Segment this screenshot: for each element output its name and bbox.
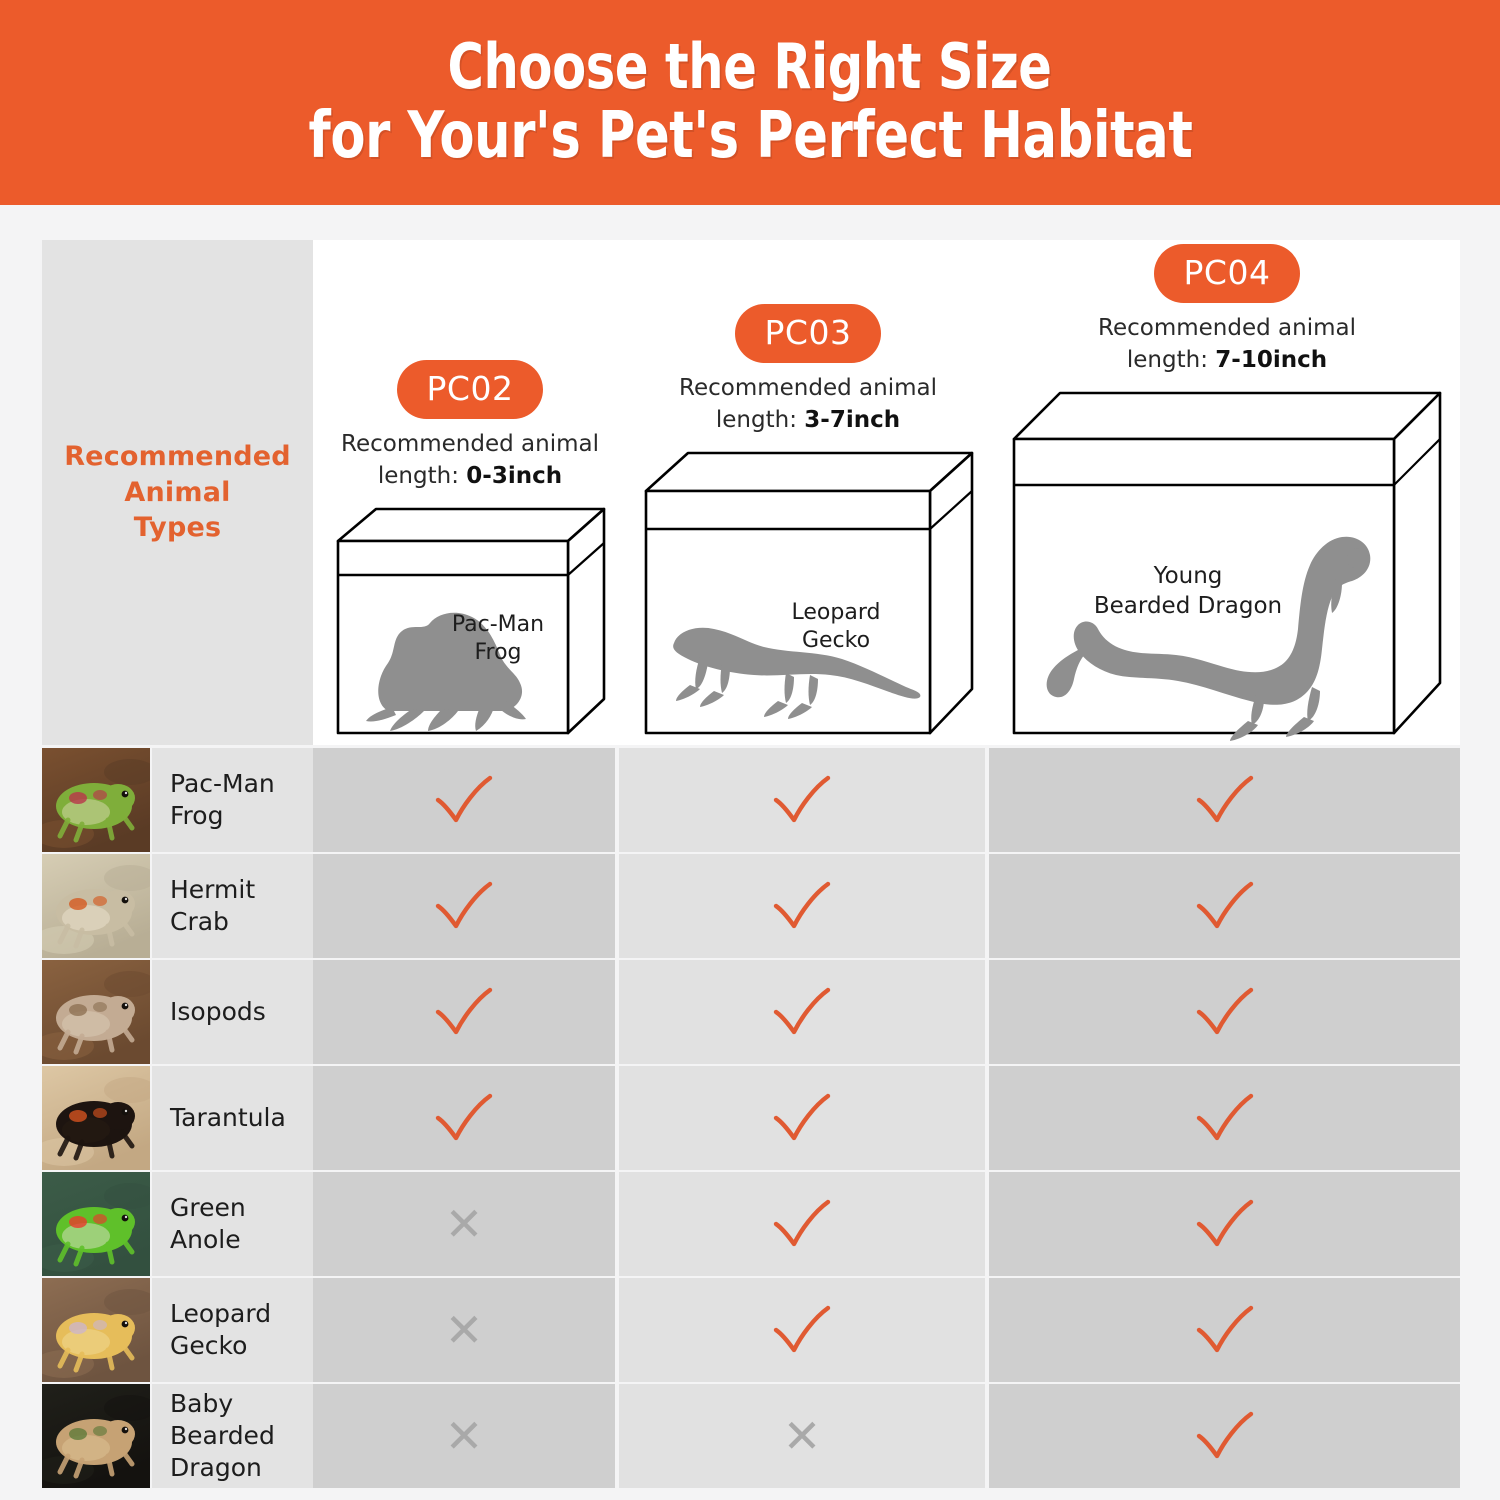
animal-name-label: Isopods	[152, 996, 266, 1028]
animal-name-cell: Tarantula	[152, 1066, 313, 1170]
cross-icon: ✕	[445, 1201, 484, 1247]
size-badge-pc02[interactable]: PC02	[397, 360, 544, 419]
rec-value-pc04: 7-10inch	[1215, 347, 1327, 373]
terrarium-box-pc03: Leopard Gecko	[638, 447, 979, 743]
recommendation-text-pc02: Recommended animal length: 0-3inch	[325, 428, 615, 493]
box-label-pc03-line1: Leopard	[791, 600, 880, 625]
check-icon	[432, 1091, 496, 1145]
cross-icon: ✕	[445, 1413, 484, 1459]
check-icon	[1193, 879, 1257, 933]
table-row: Isopods	[42, 960, 1460, 1064]
table-row: LeopardGecko✕	[42, 1278, 1460, 1382]
size-comparison-panel: Recommended Animal Types PC02 Recommende…	[42, 240, 1460, 745]
pacman-frog-photo	[42, 748, 150, 852]
compatibility-cell-pc04	[989, 960, 1460, 1064]
terrarium-box-pc04: Young Bearded Dragon	[1006, 387, 1448, 743]
check-icon	[1193, 985, 1257, 1039]
animal-name-label: LeopardGecko	[152, 1298, 271, 1362]
compatibility-cell-pc03	[619, 1066, 985, 1170]
animal-name-cell: GreenAnole	[152, 1172, 313, 1276]
baby-bearded-dragon-photo	[42, 1384, 150, 1488]
animal-name-label: Tarantula	[152, 1102, 286, 1134]
animal-photo-cell	[42, 1172, 150, 1276]
box-label-pc02-line2: Frog	[474, 640, 521, 665]
green-anole-photo	[42, 1172, 150, 1276]
rec-prefix-pc03: length:	[716, 407, 804, 433]
check-icon	[770, 879, 834, 933]
leopard-gecko-photo	[42, 1278, 150, 1382]
legend-header-line-2: Animal	[64, 475, 291, 511]
animal-name-cell: Baby BeardedDragon	[152, 1384, 313, 1488]
compatibility-cell-pc02: ✕	[313, 1278, 615, 1382]
hermit-crab-photo	[42, 854, 150, 958]
compatibility-cell-pc04	[989, 748, 1460, 852]
compatibility-cell-pc02: ✕	[313, 1384, 615, 1488]
compatibility-cell-pc04	[989, 1384, 1460, 1488]
compatibility-cell-pc03	[619, 960, 985, 1064]
check-icon	[770, 1197, 834, 1251]
compatibility-cell-pc03	[619, 748, 985, 852]
animal-photo-cell	[42, 854, 150, 958]
rec-line1-pc03: Recommended animal	[679, 375, 937, 401]
compatibility-cell-pc02	[313, 960, 615, 1064]
check-icon	[1193, 1303, 1257, 1357]
cross-icon: ✕	[783, 1413, 822, 1459]
legend-header-line-1: Recommended	[64, 439, 291, 475]
size-group-pc04: PC04 Recommended animal length: 7-10inch	[1001, 244, 1453, 743]
box-label-pc03-line2: Gecko	[801, 628, 869, 653]
terrarium-illustration-panel: PC02 Recommended animal length: 0-3inch	[313, 240, 1460, 745]
rec-value-pc02: 0-3inch	[466, 463, 562, 489]
rec-value-pc03: 3-7inch	[804, 407, 900, 433]
recommendation-text-pc04: Recommended animal length: 7-10inch	[1001, 312, 1453, 377]
animal-name-label: Baby BeardedDragon	[152, 1388, 313, 1484]
box-label-pc04-line2: Bearded Dragon	[1094, 593, 1282, 619]
check-icon	[1193, 1091, 1257, 1145]
animal-photo-cell	[42, 1384, 150, 1488]
compatibility-table: Pac-ManFrog HermitCrab	[42, 748, 1460, 1490]
table-row: HermitCrab	[42, 854, 1460, 958]
animal-photo-cell	[42, 1066, 150, 1170]
size-group-pc02: PC02 Recommended animal length: 0-3inch	[325, 360, 615, 743]
rec-line1-pc02: Recommended animal	[341, 431, 599, 457]
box-label-pc04-line1: Young	[1153, 563, 1223, 589]
compatibility-cell-pc04	[989, 1066, 1460, 1170]
table-row: GreenAnole✕	[42, 1172, 1460, 1276]
animal-name-label: HermitCrab	[152, 874, 255, 938]
check-icon	[770, 1303, 834, 1357]
check-icon	[770, 1091, 834, 1145]
check-icon	[1193, 773, 1257, 827]
animal-photo-cell	[42, 960, 150, 1064]
box-label-pc02-line1: Pac-Man	[451, 612, 543, 637]
compatibility-cell-pc03: ✕	[619, 1384, 985, 1488]
size-badge-pc03[interactable]: PC03	[735, 304, 882, 363]
compatibility-cell-pc04	[989, 1172, 1460, 1276]
recommendation-text-pc03: Recommended animal length: 3-7inch	[633, 372, 983, 437]
badge-wrap-pc02: PC02	[325, 360, 615, 419]
compatibility-cell-pc03	[619, 854, 985, 958]
table-row: Tarantula	[42, 1066, 1460, 1170]
check-icon	[770, 773, 834, 827]
rec-line1-pc04: Recommended animal	[1098, 315, 1356, 341]
animal-name-label: GreenAnole	[152, 1192, 246, 1256]
page-title-line-2: for Your's Pet's Perfect Habitat	[308, 104, 1192, 169]
legend-header-line-3: Types	[64, 510, 291, 546]
size-group-pc03: PC03 Recommended animal length: 3-7inch	[633, 304, 983, 743]
animal-name-cell: Isopods	[152, 960, 313, 1064]
compatibility-cell-pc04	[989, 854, 1460, 958]
page-title-line-1: Choose the Right Size	[448, 35, 1052, 98]
compatibility-cell-pc02	[313, 854, 615, 958]
animal-photo-cell	[42, 748, 150, 852]
legend-header-cell: Recommended Animal Types	[42, 240, 313, 745]
check-icon	[1193, 1409, 1257, 1463]
check-icon	[432, 773, 496, 827]
page-header-banner: Choose the Right Size for Your's Pet's P…	[0, 0, 1500, 205]
size-badge-pc04[interactable]: PC04	[1154, 244, 1301, 303]
check-icon	[432, 879, 496, 933]
compatibility-cell-pc02	[313, 1066, 615, 1170]
table-row: Pac-ManFrog	[42, 748, 1460, 852]
animal-name-label: Pac-ManFrog	[152, 768, 275, 832]
rec-prefix-pc04: length:	[1127, 347, 1215, 373]
compatibility-cell-pc02	[313, 748, 615, 852]
animal-photo-cell	[42, 1278, 150, 1382]
check-icon	[1193, 1197, 1257, 1251]
compatibility-cell-pc03	[619, 1172, 985, 1276]
compatibility-cell-pc03	[619, 1278, 985, 1382]
check-icon	[432, 985, 496, 1039]
animal-name-cell: LeopardGecko	[152, 1278, 313, 1382]
check-icon	[770, 985, 834, 1039]
cross-icon: ✕	[445, 1307, 484, 1353]
compatibility-cell-pc02: ✕	[313, 1172, 615, 1276]
compatibility-cell-pc04	[989, 1278, 1460, 1382]
legend-header-label: Recommended Animal Types	[64, 439, 291, 546]
isopods-photo	[42, 960, 150, 1064]
tarantula-photo	[42, 1066, 150, 1170]
terrarium-box-pc02: Pac-Man Frog	[330, 503, 611, 743]
table-row: Baby BeardedDragon✕✕	[42, 1384, 1460, 1488]
rec-prefix-pc02: length:	[378, 463, 466, 489]
badge-wrap-pc03: PC03	[633, 304, 983, 363]
animal-name-cell: HermitCrab	[152, 854, 313, 958]
animal-name-cell: Pac-ManFrog	[152, 748, 313, 852]
badge-wrap-pc04: PC04	[1001, 244, 1453, 303]
